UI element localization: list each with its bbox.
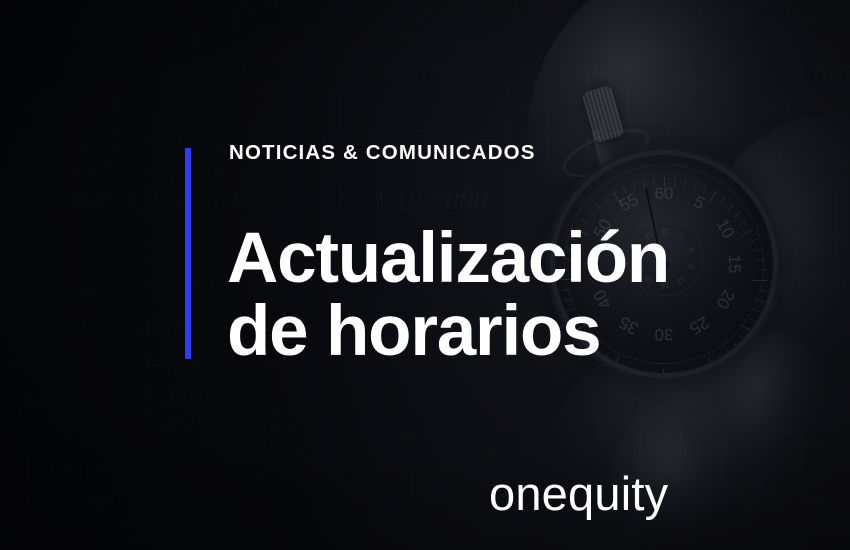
headline-line-2: de horarios xyxy=(227,295,669,368)
accent-bar xyxy=(185,148,191,359)
headline-line-1: Actualización xyxy=(227,222,669,295)
page-title: Actualización de horarios xyxy=(227,222,669,368)
banner-content: NOTICIAS & COMUNICADOS Actualización de … xyxy=(0,0,850,550)
category-eyebrow: NOTICIAS & COMUNICADOS xyxy=(229,143,536,164)
onequity-logo: onequity xyxy=(489,470,668,517)
news-banner: 107.800121.570125.220115.940116.110116.3… xyxy=(0,0,850,550)
